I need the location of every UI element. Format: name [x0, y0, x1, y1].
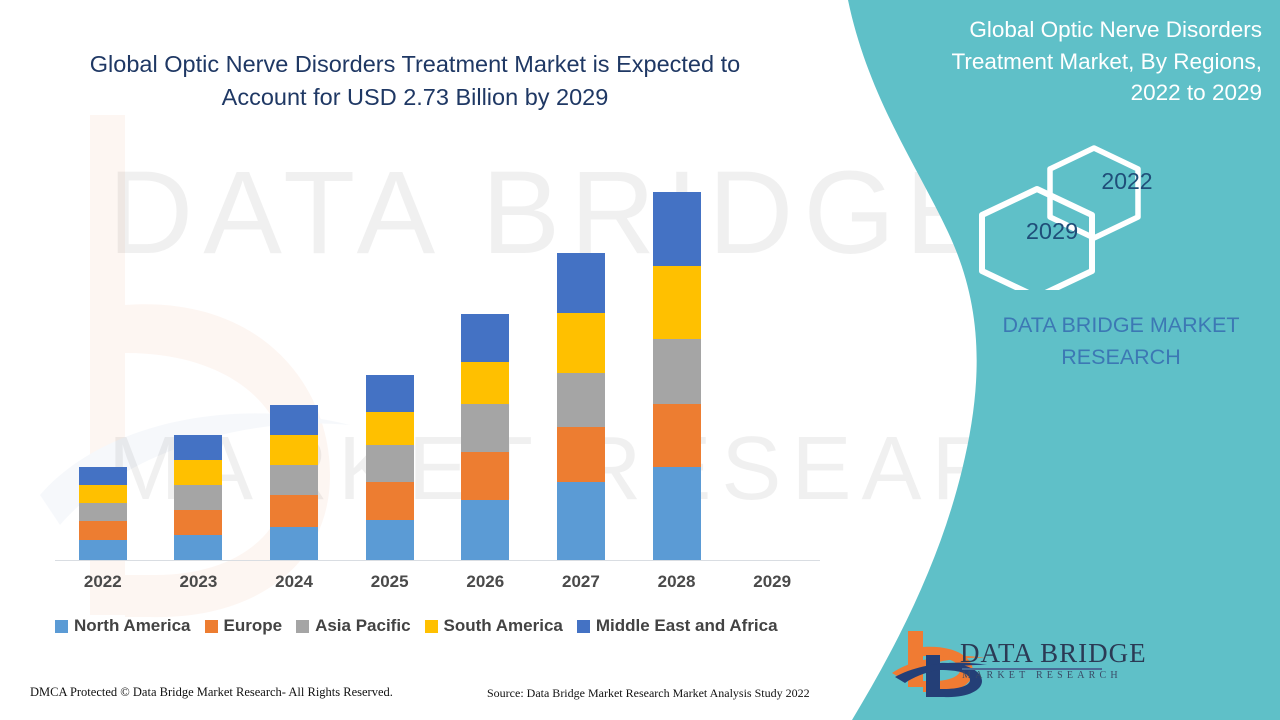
hexagon-label-2029: 2029 — [1008, 218, 1096, 245]
brand-name-text: DATA BRIDGE MARKET RESEARCH — [980, 310, 1262, 374]
hexagon-label-2022: 2022 — [1086, 168, 1168, 195]
infographic-canvas: DATA BRIDGE MARKET RESEARCH Global Optic… — [0, 0, 1280, 720]
logo-wordmark: DATA BRIDGE — [960, 638, 1147, 669]
logo-subtitle: MARKET RESEARCH — [962, 670, 1122, 681]
panel-title: Global Optic Nerve Disorders Treatment M… — [910, 14, 1262, 109]
